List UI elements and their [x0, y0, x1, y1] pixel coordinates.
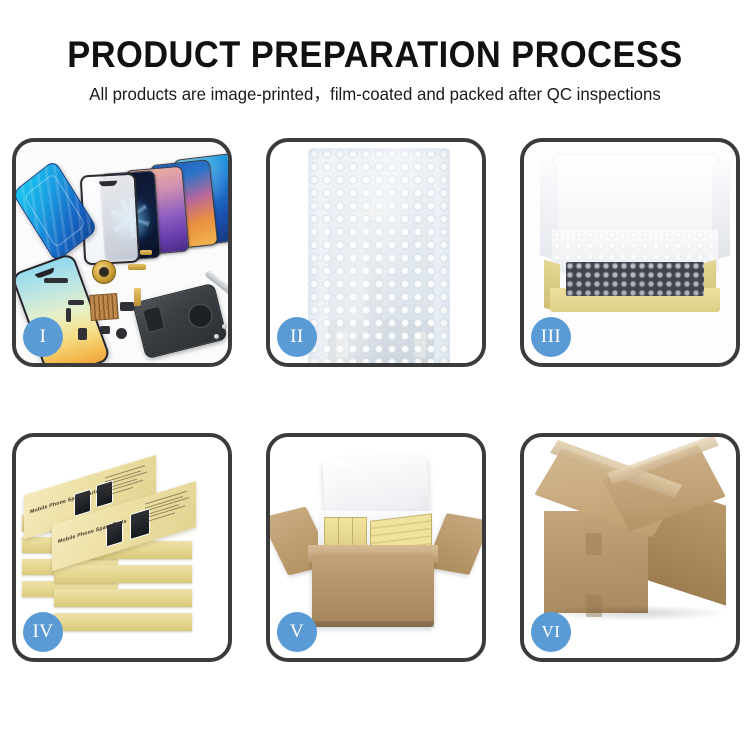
step-badge-4: IV	[23, 612, 63, 652]
step-badge-2: II	[277, 317, 317, 357]
product-preparation-process-page: PRODUCT PREPARATION PROCESS All products…	[0, 0, 750, 750]
step-badge-5: V	[277, 612, 317, 652]
process-step-panel-5[interactable]: V	[266, 433, 486, 662]
process-step-panel-3[interactable]: III	[520, 138, 740, 367]
process-steps-grid: I II	[12, 138, 740, 662]
process-step-panel-6[interactable]: VI	[520, 433, 740, 662]
page-subtitle: All products are image-printed，film-coat…	[15, 76, 735, 105]
step-badge-3: III	[531, 317, 571, 357]
process-step-panel-1[interactable]: I	[12, 138, 232, 367]
step-badge-6: VI	[531, 612, 571, 652]
process-step-panel-4[interactable]: Mobile Phone Spare Parts Mobile Phone Sp…	[12, 433, 232, 662]
page-title: PRODUCT PREPARATION PROCESS	[26, 0, 724, 76]
page-header: PRODUCT PREPARATION PROCESS All products…	[0, 0, 750, 105]
process-step-panel-2[interactable]: II	[266, 138, 486, 367]
step-badge-1: I	[23, 317, 63, 357]
